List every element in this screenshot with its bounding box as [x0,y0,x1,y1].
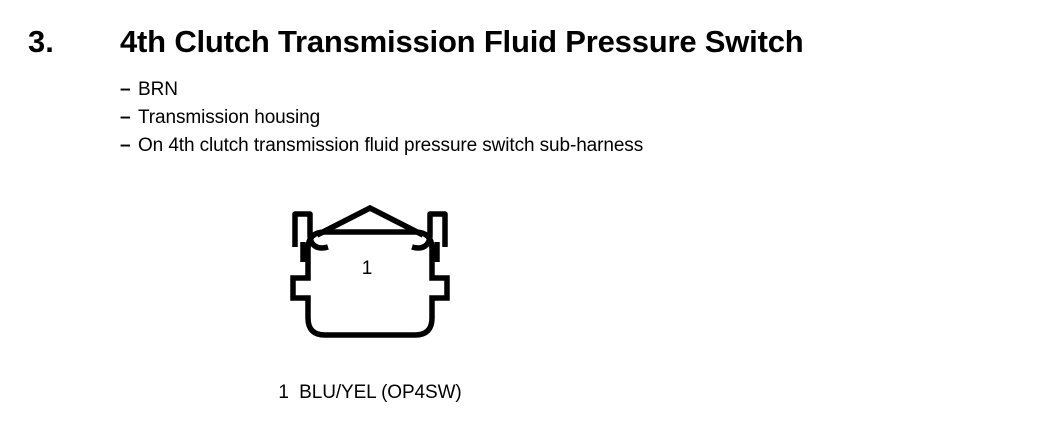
spec-list-item: –BRN [120,76,940,104]
spec-item-label: On 4th clutch transmission fluid pressur… [138,135,643,156]
connector-caption: 1 BLU/YEL (OP4SW) [190,381,550,405]
spec-item-label: Transmission housing [138,107,320,128]
entry-number: 3. [28,22,54,62]
dash-bullet-icon: – [120,104,138,132]
entry-title: 4th Clutch Transmission Fluid Pressure S… [120,22,804,62]
entry-header: 3. 4th Clutch Transmission Fluid Pressur… [0,22,1056,68]
dash-bullet-icon: – [120,76,138,104]
connector-pin-number: 1 [262,258,472,280]
spec-item-label: BRN [138,79,178,100]
spec-list: –BRN –Transmission housing –On 4th clutc… [120,76,940,160]
spec-list-item: –On 4th clutch transmission fluid pressu… [120,132,940,160]
connector-figure: 1 [270,190,480,355]
document-page: 3. 4th Clutch Transmission Fluid Pressur… [0,0,1056,426]
dash-bullet-icon: – [120,132,138,160]
spec-list-item: –Transmission housing [120,104,940,132]
